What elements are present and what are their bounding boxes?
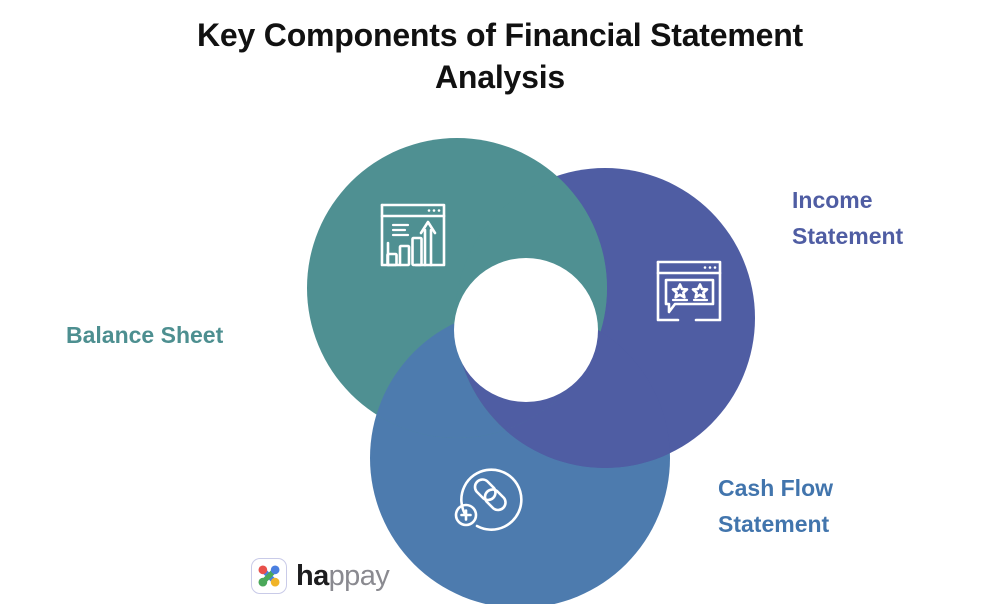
happay-logo-word-bold: ha — [296, 560, 329, 592]
happay-logo: happay — [251, 558, 389, 594]
label-income-statement-line-1: Income — [792, 187, 873, 213]
label-balance-sheet: Balance Sheet — [66, 318, 306, 354]
page-title-line-1: Key Components of Financial Statement — [197, 17, 803, 53]
happay-logo-mark — [251, 558, 287, 594]
label-cash-flow-statement-line-2: Statement — [718, 511, 829, 537]
label-cash-flow-statement: Cash Flow Statement — [718, 471, 928, 542]
happay-logo-word-light: ppay — [329, 560, 390, 592]
label-income-statement-line-2: Statement — [792, 223, 903, 249]
happay-logo-wordmark: happay — [296, 562, 389, 591]
page-title-line-2: Analysis — [435, 59, 565, 95]
infographic-canvas: Key Components of Financial Statement An… — [0, 0, 1000, 604]
label-income-statement: Income Statement — [792, 183, 992, 254]
page-title: Key Components of Financial Statement An… — [140, 14, 860, 98]
venn-diagram — [280, 128, 780, 578]
label-cash-flow-statement-line-1: Cash Flow — [718, 475, 833, 501]
label-balance-sheet-text: Balance Sheet — [66, 322, 223, 348]
